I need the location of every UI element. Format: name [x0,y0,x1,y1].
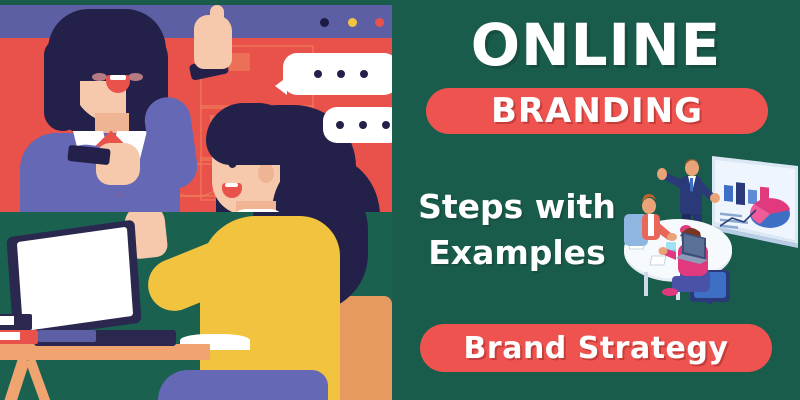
page-title: ONLINE [392,16,800,74]
badge-branding: BRANDING [426,88,768,134]
left-illustration-column [0,0,392,400]
chat-bubble-1-dots [283,70,392,78]
chat-bubble-2 [323,107,392,143]
chat-dot-icon [360,70,368,78]
chat-bubble-1 [283,53,392,95]
person-left-teeth [110,75,126,80]
banner-root: ONLINE BRANDING Steps with Examples [0,0,800,400]
subtitle-line-1: Steps with [402,184,632,230]
chat-bubble-1-tail [275,77,287,95]
person-right-ear [258,163,274,183]
headline-column: ONLINE BRANDING Steps with Examples [392,0,800,400]
person-left-eye-left [98,57,107,68]
badge-brand-strategy: Brand Strategy [420,324,772,372]
person-right-eye [228,157,237,168]
badge-brand-strategy-label: Brand Strategy [464,331,729,366]
chat-dot-icon [359,121,367,129]
window-dot-yellow-icon [348,18,357,27]
office-svg [620,152,800,304]
window-dot-dark-icon [320,18,329,27]
chat-dot-icon [382,121,390,129]
book-stack-upper-pages [0,316,14,325]
chat-dot-icon [337,70,345,78]
chat-dot-icon [336,121,344,129]
person-right-teeth [225,183,238,187]
laptop-screen [17,227,133,332]
subtitle: Steps with Examples [402,184,632,275]
person-right-hair-front [206,103,296,165]
chat-dot-icon [314,70,322,78]
illustration-woman-at-laptop [0,212,392,400]
person-right-eyebrow [225,148,239,151]
chair-seat [158,370,328,400]
person-left-blush-right [128,73,143,81]
person-left-pointing-finger [210,5,224,35]
person-left-eye-right [122,57,131,68]
chat-bubble-2-dots [323,121,392,129]
book-stack-lower-pages [0,332,20,340]
window-dot-red-icon [375,18,384,27]
person-left-hair-side-left [44,39,80,131]
desk-surface [0,344,210,360]
badge-branding-label: BRANDING [491,91,703,131]
person-left-eyebrow-left [97,49,109,52]
laptop-keyboard [38,330,96,342]
illustration-office-presentation [620,152,800,304]
subtitle-line-2: Examples [402,230,632,276]
illustration-two-women-conversation [0,5,392,212]
person-left-blush-left [92,73,107,81]
desk-leg-right [25,358,52,400]
person-left-eyebrow-right [121,49,133,52]
